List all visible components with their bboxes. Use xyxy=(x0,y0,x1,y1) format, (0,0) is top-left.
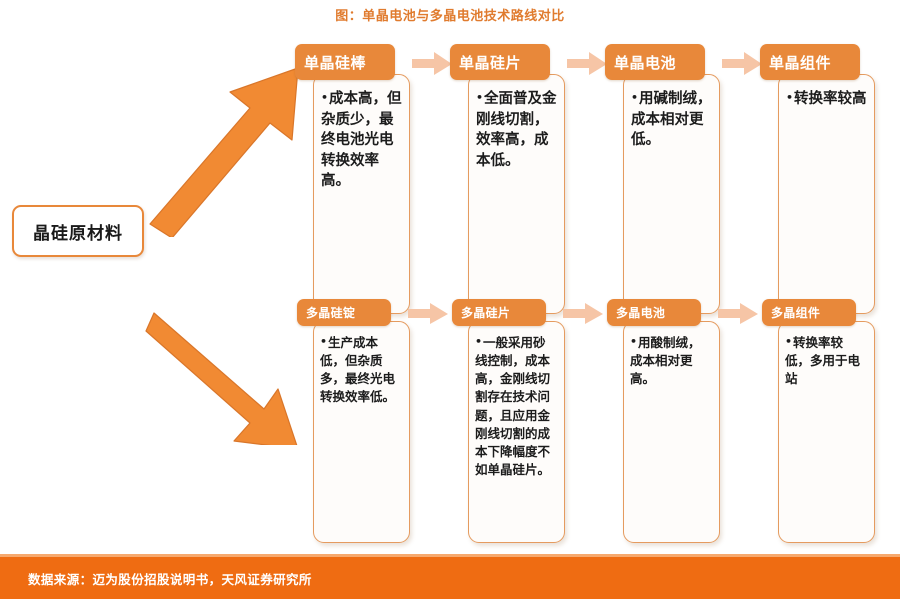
footer-bar: 数据来源：迈为股份招股说明书，天风证券研究所 xyxy=(0,557,900,599)
stage-mono-ingot: •成本高，但杂质少，最终电池光电转换效率高。 单晶硅棒 xyxy=(295,44,430,306)
connector-arrow-icon xyxy=(722,52,764,76)
stage-body-mono-cell: •用碱制绒，成本相对更低。 xyxy=(623,74,720,314)
stage-mono-wafer: •全面普及金刚线切割，效率高，成本低。 单晶硅片 xyxy=(450,44,585,306)
connector-arrow-icon xyxy=(412,52,454,76)
bullet-icon: • xyxy=(321,91,328,104)
stage-header-multi-ingot[interactable]: 多晶硅锭 xyxy=(297,299,391,326)
stage-header-label: 多晶硅片 xyxy=(461,304,510,321)
stage-multi-module: •转换率较低，多用于电站 多晶组件 xyxy=(762,299,897,545)
stage-body-text: •转换率较低，多用于电站 xyxy=(779,322,874,388)
stage-multi-wafer: •一般采用砂线控制，成本高，金刚线切割存在技术问题，且应用金刚线切割的成本下降幅… xyxy=(452,299,587,545)
stage-body-multi-ingot: •生产成本低，但杂质多，最终光电转换效率低。 xyxy=(313,321,410,543)
stage-mono-cell: •用碱制绒，成本相对更低。 单晶电池 xyxy=(605,44,740,306)
stage-body-mono-ingot: •成本高，但杂质少，最终电池光电转换效率高。 xyxy=(313,74,410,314)
bullet-icon: • xyxy=(320,335,327,348)
connector-arrow-icon xyxy=(563,303,605,325)
stage-header-multi-module[interactable]: 多晶组件 xyxy=(762,299,856,326)
stage-mono-module: •转换率较高 单晶组件 xyxy=(760,44,895,306)
bullet-icon: • xyxy=(630,335,637,348)
stage-header-label: 多晶组件 xyxy=(771,304,820,321)
stage-body-text: •用碱制绒，成本相对更低。 xyxy=(624,75,719,151)
source-note: 数据来源：迈为股份招股说明书，天风证券研究所 xyxy=(0,569,312,588)
bullet-icon: • xyxy=(786,91,793,104)
bullet-icon: • xyxy=(476,91,483,104)
stage-body-text: •转换率较高 xyxy=(779,75,874,110)
stage-header-label: 多晶硅锭 xyxy=(306,304,355,321)
stage-header-label: 单晶硅棒 xyxy=(304,52,366,73)
stage-body-mono-module: •转换率较高 xyxy=(778,74,875,314)
stage-header-label: 单晶电池 xyxy=(614,52,676,73)
stage-body-text: •全面普及金刚线切割，效率高，成本低。 xyxy=(469,75,564,171)
stage-header-mono-cell[interactable]: 单晶电池 xyxy=(605,44,705,80)
stage-body-text: •用酸制绒，成本相对更高。 xyxy=(624,322,719,388)
stage-body-text: •成本高，但杂质少，最终电池光电转换效率高。 xyxy=(314,75,409,192)
diagram-canvas: 图：单晶电池与多晶电池技术路线对比 晶硅原材料 •成本高，但杂质少，最终电池光电… xyxy=(0,0,900,599)
connector-arrow-icon xyxy=(718,303,760,325)
stage-body-text: •一般采用砂线控制，成本高，金刚线切割存在技术问题，且应用金刚线切割的成本下降幅… xyxy=(469,322,564,479)
stage-header-multi-cell[interactable]: 多晶电池 xyxy=(607,299,701,326)
stage-header-mono-ingot[interactable]: 单晶硅棒 xyxy=(295,44,395,80)
source-material-label: 晶硅原材料 xyxy=(33,219,123,244)
stage-body-multi-cell: •用酸制绒，成本相对更高。 xyxy=(623,321,720,543)
stage-header-label: 单晶硅片 xyxy=(459,52,521,73)
stage-multi-ingot: •生产成本低，但杂质多，最终光电转换效率低。 多晶硅锭 xyxy=(297,299,432,545)
stage-header-mono-wafer[interactable]: 单晶硅片 xyxy=(450,44,550,80)
stage-header-label: 单晶组件 xyxy=(769,52,831,73)
stage-body-text: •生产成本低，但杂质多，最终光电转换效率低。 xyxy=(314,322,409,407)
stage-body-multi-module: •转换率较低，多用于电站 xyxy=(778,321,875,543)
connector-arrow-icon xyxy=(567,52,609,76)
diagonal-arrow-up-right xyxy=(140,62,320,237)
page-title: 图：单晶电池与多晶电池技术路线对比 xyxy=(0,5,900,24)
stage-body-mono-wafer: •全面普及金刚线切割，效率高，成本低。 xyxy=(468,74,565,314)
stage-body-multi-wafer: •一般采用砂线控制，成本高，金刚线切割存在技术问题，且应用金刚线切割的成本下降幅… xyxy=(468,321,565,543)
bullet-icon: • xyxy=(785,335,792,348)
diagonal-arrow-down-right xyxy=(140,295,315,445)
stage-header-mono-module[interactable]: 单晶组件 xyxy=(760,44,860,80)
source-material-box: 晶硅原材料 xyxy=(12,205,144,257)
stage-header-label: 多晶电池 xyxy=(616,304,665,321)
stage-header-multi-wafer[interactable]: 多晶硅片 xyxy=(452,299,546,326)
stage-multi-cell: •用酸制绒，成本相对更高。 多晶电池 xyxy=(607,299,742,545)
bullet-icon: • xyxy=(475,335,482,348)
bullet-icon: • xyxy=(631,91,638,104)
connector-arrow-icon xyxy=(408,303,450,325)
